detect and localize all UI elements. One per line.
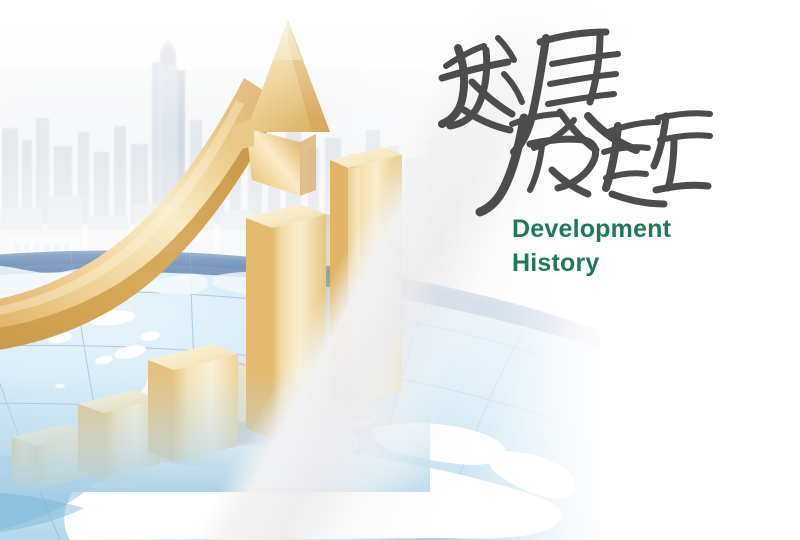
english-line-1: Development [512, 212, 671, 246]
cjk-char-fa [442, 38, 522, 130]
cjk-char-cheng [604, 113, 710, 204]
english-line-2: History [512, 246, 671, 280]
english-subtitle: Development History [512, 212, 671, 280]
cjk-calligraphy-title [428, 20, 718, 220]
development-history-banner: Development History [0, 0, 800, 540]
title-block: Development History [428, 20, 728, 280]
